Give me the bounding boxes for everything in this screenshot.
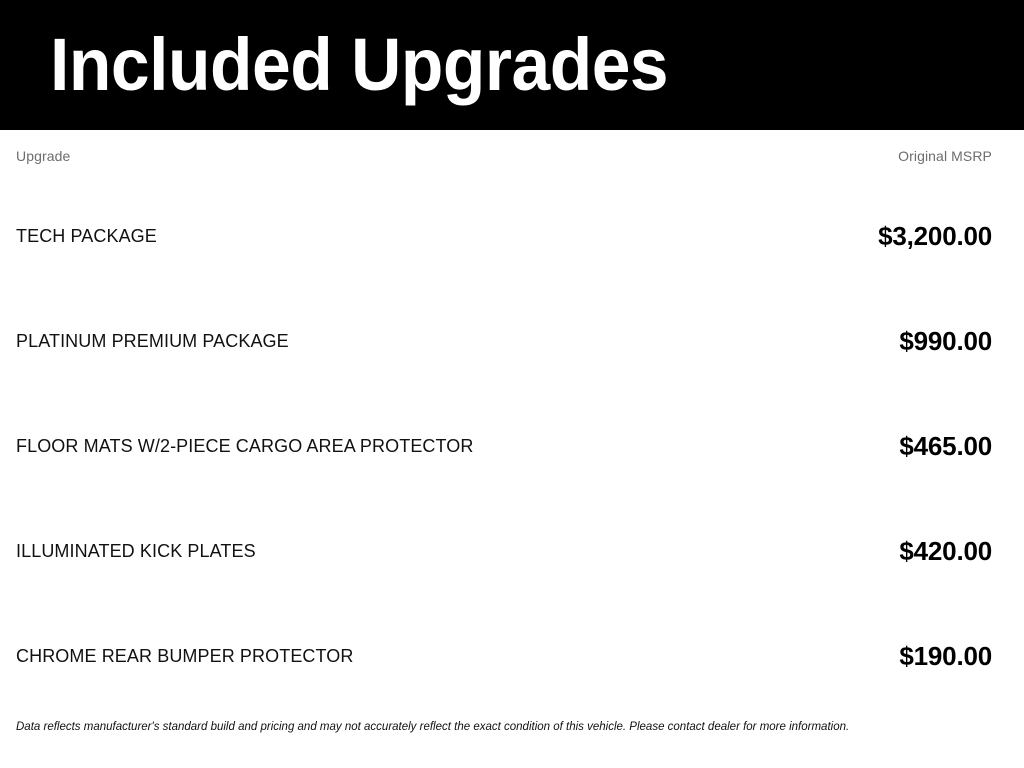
table-row: FLOOR MATS W/2-PIECE CARGO AREA PROTECTO… — [16, 394, 992, 499]
upgrade-name: CHROME REAR BUMPER PROTECTOR — [16, 646, 354, 667]
upgrade-name: ILLUMINATED KICK PLATES — [16, 541, 256, 562]
upgrade-msrp: $190.00 — [899, 641, 992, 672]
table-row: ILLUMINATED KICK PLATES $420.00 — [16, 499, 992, 604]
table-body: TECH PACKAGE $3,200.00 PLATINUM PREMIUM … — [16, 184, 992, 709]
table-column-headers: Upgrade Original MSRP — [16, 130, 992, 174]
page-title: Included Upgrades — [50, 28, 668, 102]
table-row: PLATINUM PREMIUM PACKAGE $990.00 — [16, 289, 992, 394]
disclaimer-footer: Data reflects manufacturer's standard bu… — [0, 720, 1024, 768]
upgrade-name: TECH PACKAGE — [16, 226, 157, 247]
included-upgrades-page: Included Upgrades Upgrade Original MSRP … — [0, 0, 1024, 768]
upgrade-msrp: $3,200.00 — [878, 221, 992, 252]
column-header-original-msrp: Original MSRP — [898, 148, 992, 164]
table-row: TECH PACKAGE $3,200.00 — [16, 184, 992, 289]
upgrade-name: PLATINUM PREMIUM PACKAGE — [16, 331, 289, 352]
table-row: CHROME REAR BUMPER PROTECTOR $190.00 — [16, 604, 992, 709]
upgrade-msrp: $990.00 — [899, 326, 992, 357]
upgrade-name: FLOOR MATS W/2-PIECE CARGO AREA PROTECTO… — [16, 436, 474, 457]
upgrade-msrp: $420.00 — [899, 536, 992, 567]
disclaimer-text: Data reflects manufacturer's standard bu… — [16, 720, 849, 735]
page-header-banner: Included Upgrades — [0, 0, 1024, 130]
upgrades-table: Upgrade Original MSRP TECH PACKAGE $3,20… — [0, 130, 1024, 720]
upgrade-msrp: $465.00 — [899, 431, 992, 462]
column-header-upgrade: Upgrade — [16, 148, 70, 164]
